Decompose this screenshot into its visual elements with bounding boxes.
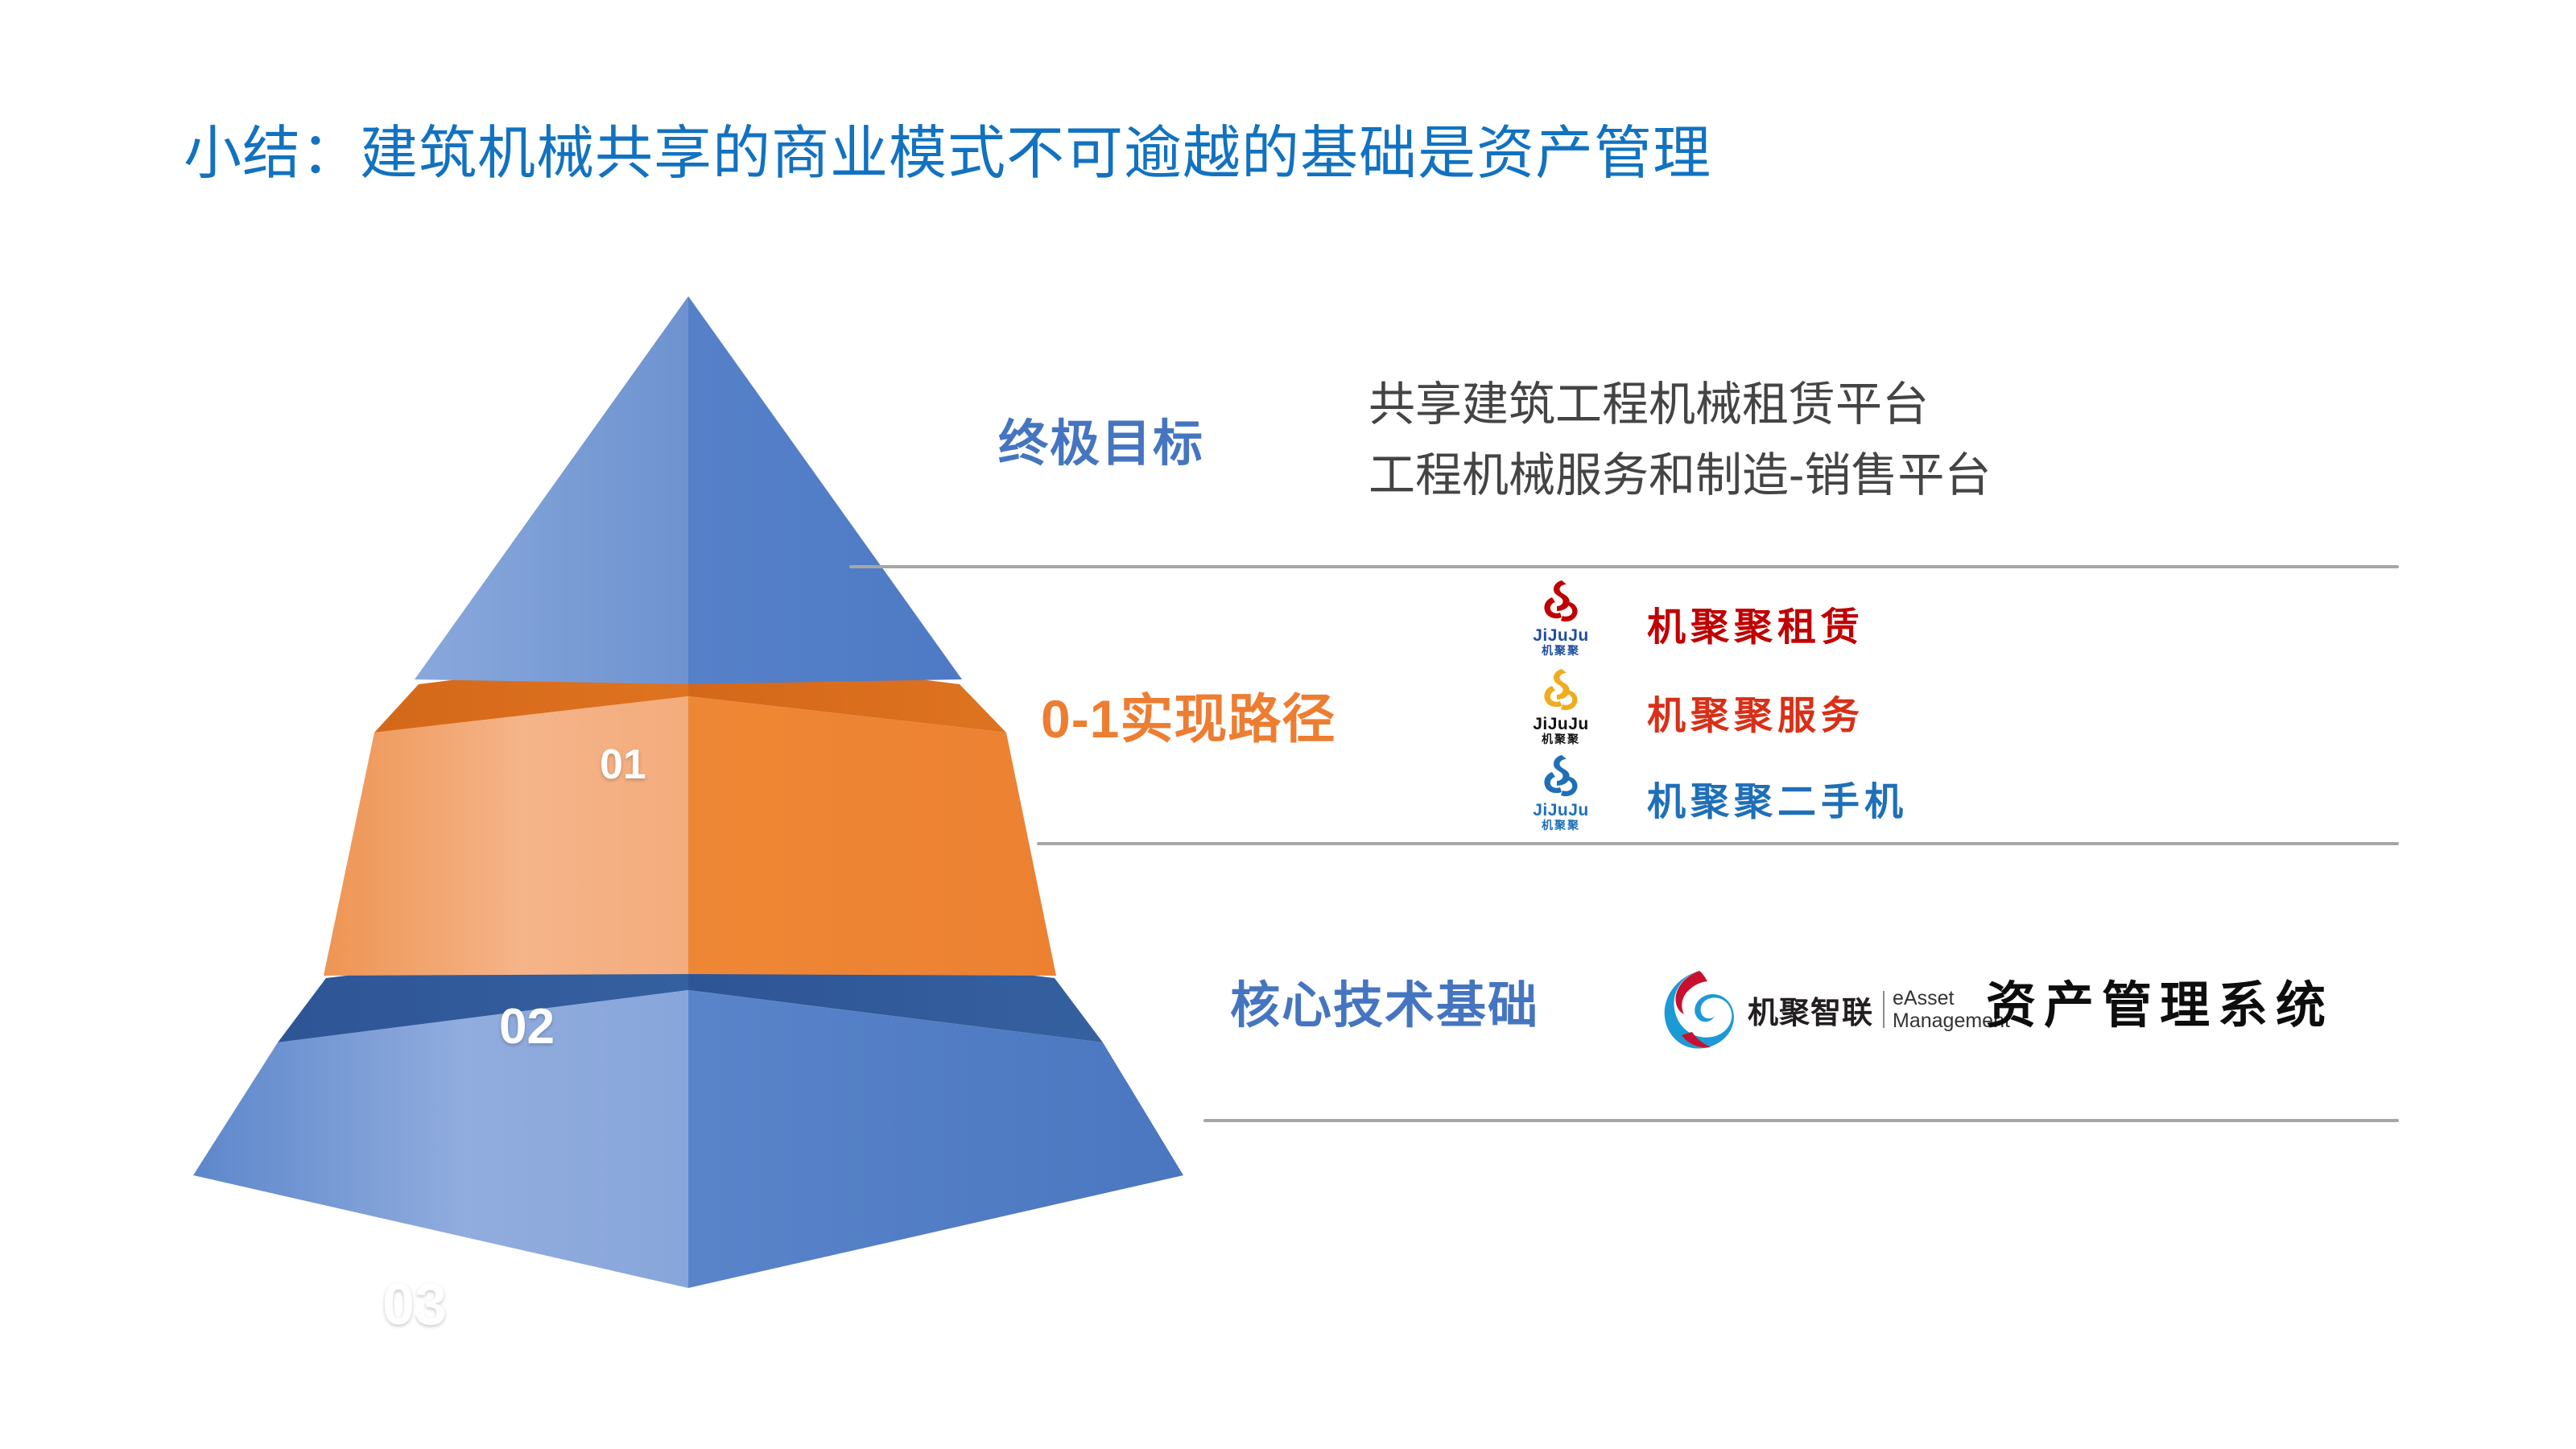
service-name-usedmachine: 机聚聚二手机	[1647, 770, 1908, 826]
easset-logo: 机聚智联 eAsset Management	[1662, 966, 2010, 1053]
goal-line-1: 共享建筑工程机械租赁平台	[1368, 372, 1991, 438]
jijuju-mark-icon	[1534, 578, 1587, 626]
row-label-goal: 终极目标	[998, 402, 1204, 475]
jijuju-cn-name: 机聚聚	[1542, 819, 1580, 832]
service-row-service: JiJuJu 机聚聚 机聚聚服务	[1513, 667, 1864, 757]
jijuju-logo-usedmachine: JiJuJu 机聚聚	[1513, 753, 1608, 843]
asset-management-system-title: 资产管理系统	[1986, 964, 2334, 1037]
jijuju-cn-name: 机聚聚	[1542, 645, 1580, 657]
row-label-path: 0-1实现路径	[1041, 676, 1335, 753]
jijuju-cn-name: 机聚聚	[1542, 733, 1580, 745]
easset-logo-divider	[1883, 991, 1885, 1028]
easset-mark-icon	[1662, 966, 1736, 1053]
service-row-usedmachine: JiJuJu 机聚聚 机聚聚二手机	[1513, 753, 1908, 843]
jijuju-wordmark: JiJuJu	[1533, 716, 1589, 733]
jijuju-logo-rental: JiJuJu 机聚聚	[1513, 578, 1608, 668]
pyramid-tier-02	[324, 650, 1056, 976]
jijuju-wordmark: JiJuJu	[1533, 802, 1589, 819]
service-name-rental: 机聚聚租赁	[1647, 595, 1864, 651]
pyramid-tier-01	[415, 296, 962, 684]
goal-line-2: 工程机械服务和制造-销售平台	[1368, 443, 1991, 509]
pyramid-tier-03	[193, 934, 1183, 1288]
jijuju-mark-icon	[1534, 667, 1587, 715]
divider-line-goal	[849, 565, 2399, 568]
service-name-service: 机聚聚服务	[1647, 683, 1864, 740]
easset-logo-cn: 机聚智联	[1748, 988, 1873, 1032]
service-row-rental: JiJuJu 机聚聚 机聚聚租赁	[1513, 578, 1864, 668]
goal-text-block: 共享建筑工程机械租赁平台 工程机械服务和制造-销售平台	[1368, 372, 1991, 514]
divider-line-core	[1203, 1119, 2399, 1122]
page-title: 小结：建筑机械共享的商业模式不可逾越的基础是资产管理	[184, 122, 1711, 186]
jijuju-wordmark: JiJuJu	[1533, 627, 1589, 645]
jijuju-mark-icon	[1534, 753, 1587, 801]
jijuju-logo-service: JiJuJu 机聚聚	[1513, 667, 1608, 757]
row-label-core: 核心技术基础	[1230, 964, 1539, 1037]
